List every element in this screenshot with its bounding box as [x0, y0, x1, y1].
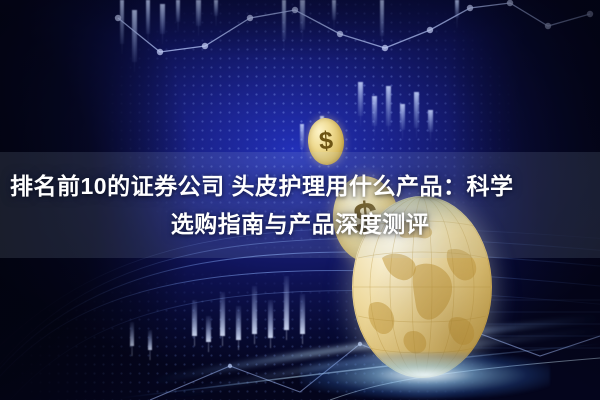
headline-line-1: 排名前10的证券公司 头皮护理用什么产品：科学	[0, 168, 600, 204]
globe-base-glow	[300, 352, 550, 398]
cover-banner: $ $	[0, 0, 600, 400]
headline-line-2: 选购指南与产品深度测评	[0, 206, 600, 242]
headline-block: 排名前10的证券公司 头皮护理用什么产品：科学 选购指南与产品深度测评	[0, 152, 600, 258]
